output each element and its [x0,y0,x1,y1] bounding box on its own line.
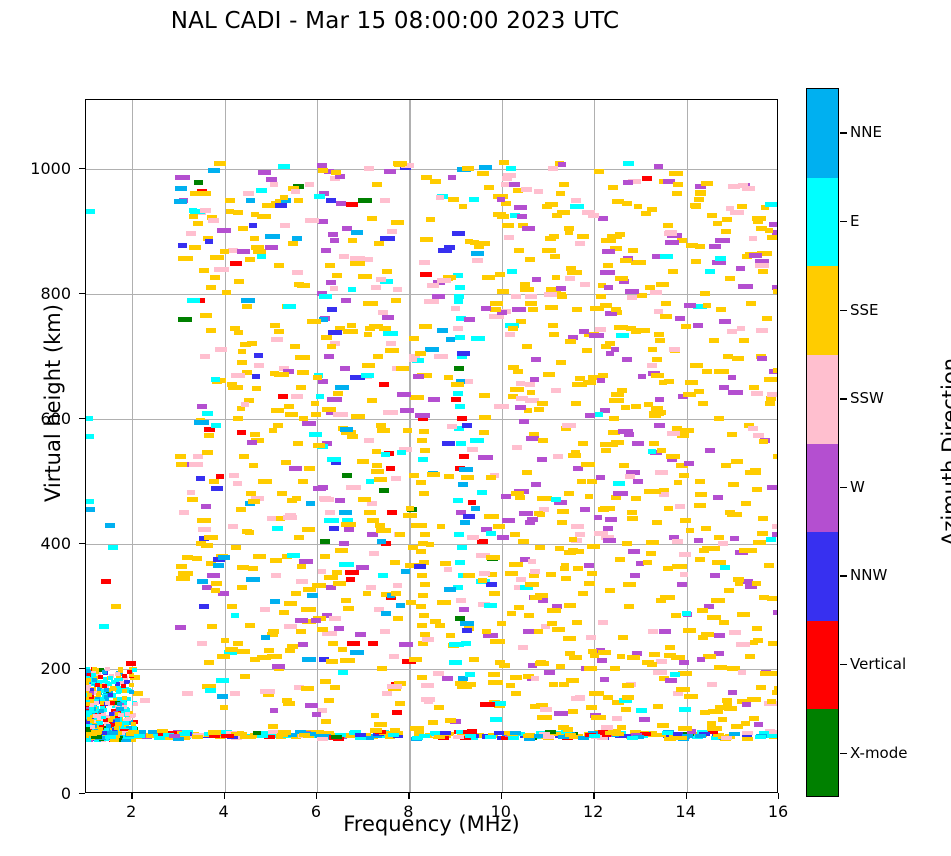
echo-marker [722,217,732,222]
echo-marker [737,326,746,331]
echo-marker [750,640,758,645]
echo-marker [752,581,761,586]
echo-marker [269,428,277,433]
echo-marker [521,187,532,192]
echo-marker [313,375,322,380]
echo-marker [594,531,608,536]
echo-marker [397,392,411,397]
echo-marker [695,557,705,562]
echo-marker [458,482,468,487]
echo-marker [532,734,543,738]
echo-marker [562,423,577,428]
echo-marker [547,608,561,613]
echo-marker [189,214,197,219]
echo-marker [249,463,258,468]
echo-marker [361,373,374,378]
gridline-horizontal [86,419,777,420]
echo-marker [727,512,742,517]
echo-marker [662,731,673,735]
echo-marker [746,301,756,306]
echo-marker [627,510,637,515]
echo-marker [490,639,505,644]
echo-marker [601,725,613,730]
echo-marker [766,537,776,542]
echo-marker [383,410,397,415]
echo-marker [376,423,386,428]
gridline-vertical [225,100,226,792]
echo-marker [767,235,777,240]
echo-marker [373,354,383,359]
echo-marker [540,707,553,712]
echo-marker [469,197,479,202]
echo-marker [409,357,418,362]
echo-marker [358,198,372,203]
echo-marker [499,663,511,668]
echo-marker [125,708,130,712]
echo-marker [396,603,405,608]
echo-marker [459,467,474,472]
echo-marker [653,670,667,675]
echo-marker [237,249,250,254]
echo-marker [669,347,681,352]
echo-marker [329,526,339,531]
echo-marker [460,621,474,626]
echo-marker [292,236,302,241]
echo-marker [320,679,332,684]
echo-marker [709,338,719,343]
echo-marker [298,479,308,484]
echo-marker [371,285,381,290]
echo-marker [251,212,259,217]
echo-marker [424,299,439,304]
echo-marker [390,728,400,733]
echo-marker [270,182,279,187]
echo-marker [253,554,266,559]
echo-marker [383,331,397,336]
echo-marker [520,287,534,292]
echo-marker [284,624,298,629]
echo-marker [449,660,463,665]
echo-marker [656,282,669,287]
echo-marker [236,507,246,512]
echo-marker [437,600,451,605]
x-axis-tick [224,793,225,799]
echo-marker [488,680,502,685]
echo-marker [453,498,463,503]
echo-marker [628,549,640,554]
echo-marker [355,733,366,737]
echo-marker [727,432,737,437]
echo-marker [198,527,211,532]
echo-marker [377,539,387,544]
echo-marker [237,585,247,590]
x-axis-tick [686,793,687,799]
echo-marker [646,540,659,545]
echo-marker [752,216,766,221]
echo-marker [362,363,376,368]
echo-marker [377,428,390,433]
echo-marker [456,598,466,603]
echo-marker [324,575,338,580]
echo-marker [86,681,89,685]
echo-marker [659,380,667,385]
colorbar-segment-vertical [807,621,838,710]
echo-marker [422,637,434,642]
echo-marker [760,671,775,676]
echo-marker [582,210,595,215]
echo-marker [459,454,469,459]
echo-marker [594,169,604,174]
echo-marker [230,261,242,266]
echo-marker [600,677,609,682]
y-axis-tick-label: 1000 [1,159,71,178]
echo-marker [245,623,255,628]
echo-marker [503,173,516,178]
echo-marker [563,727,573,732]
y-axis-tick-label: 400 [1,534,71,553]
echo-marker [254,353,263,358]
echo-marker [737,612,750,617]
echo-marker [648,347,657,352]
colorbar-tick [840,753,847,754]
echo-marker [391,476,401,481]
echo-marker [343,329,358,334]
echo-marker [713,221,722,226]
colorbar-tick [840,132,847,133]
echo-marker [175,454,186,459]
echo-marker [292,270,303,275]
echo-marker [715,256,726,261]
echo-marker [140,698,150,703]
echo-marker [338,647,348,652]
echo-marker [331,170,341,175]
echo-marker [558,162,566,167]
echo-marker [598,620,608,625]
echo-marker [294,198,304,203]
echo-marker [751,391,763,396]
echo-marker [380,629,390,634]
echo-marker [240,342,251,347]
echo-marker [108,545,118,550]
echo-marker [285,412,298,417]
echo-marker [613,491,628,496]
echo-marker [451,397,461,402]
echo-marker [157,729,168,733]
echo-marker [174,199,187,204]
echo-marker [596,475,606,480]
echo-marker [742,186,755,191]
echo-marker [366,479,375,484]
echo-marker [712,560,727,565]
echo-marker [257,655,271,660]
echo-marker [318,569,326,574]
echo-marker [228,248,238,253]
echo-marker [275,203,288,208]
echo-marker [542,248,556,253]
echo-marker [757,531,768,536]
echo-marker [525,382,535,387]
echo-marker [108,718,113,722]
echo-marker [334,626,344,631]
echo-marker [707,682,717,687]
echo-marker [616,333,630,338]
echo-marker [705,269,716,274]
echo-marker [551,497,560,502]
echo-marker [680,518,692,523]
echo-marker [477,171,489,176]
echo-marker [625,289,639,294]
echo-marker [537,457,547,462]
echo-marker [376,277,385,282]
echo-marker [265,245,279,250]
echo-marker [766,396,776,401]
echo-marker [680,428,695,433]
echo-marker [676,736,687,740]
echo-marker [517,214,528,219]
echo-marker [456,441,466,446]
echo-marker [737,204,747,209]
echo-marker [547,621,557,626]
echo-marker [209,479,219,484]
echo-marker [326,659,338,664]
echo-marker [575,532,585,537]
echo-marker [548,166,558,171]
echo-marker [237,565,249,570]
echo-marker [348,238,357,243]
echo-marker [132,668,137,672]
echo-marker [571,198,581,203]
echo-marker [522,470,532,475]
echo-marker [464,317,475,322]
x-axis-tick-label: 4 [194,802,254,821]
echo-marker [294,535,304,540]
echo-marker [477,539,487,544]
echo-marker [179,510,189,515]
echo-marker [400,408,414,413]
echo-marker [694,389,704,394]
echo-marker [420,532,430,537]
echo-marker [544,292,557,297]
echo-marker [753,433,764,438]
echo-marker [403,513,417,518]
echo-marker [542,204,552,209]
echo-marker [497,621,506,626]
echo-marker [321,335,332,340]
echo-marker [752,487,762,492]
echo-marker [313,486,326,491]
echo-marker [412,736,423,740]
echo-marker [301,686,314,691]
echo-marker [638,374,646,379]
echo-marker [673,182,683,187]
echo-marker [288,241,298,246]
echo-marker [366,585,376,590]
echo-marker [586,705,597,710]
echo-marker [231,613,240,618]
echo-marker [624,604,634,609]
echo-marker [205,688,217,693]
echo-marker [371,713,380,718]
x-axis-tick-label: 16 [748,802,808,821]
x-axis-tick [131,793,132,799]
echo-marker [175,625,185,630]
x-axis-tick [593,793,594,799]
echo-marker [205,239,214,244]
echo-marker [757,356,767,361]
echo-marker [98,675,103,679]
echo-marker [223,734,234,738]
echo-marker [565,276,575,281]
echo-marker [685,380,698,385]
echo-marker [681,324,691,329]
echo-marker [376,528,391,533]
echo-marker [265,234,280,239]
x-axis-tick-label: 2 [101,802,161,821]
echo-marker [568,709,578,714]
echo-marker [711,598,724,603]
echo-marker [453,391,463,396]
echo-marker [330,685,340,690]
echo-marker [656,659,667,664]
echo-marker [728,690,737,695]
echo-marker [627,295,637,300]
echo-marker [202,450,213,455]
echo-marker [623,180,633,185]
echo-marker [434,705,444,710]
echo-marker [773,454,777,459]
echo-marker [510,532,520,537]
echo-marker [199,268,209,273]
echo-marker [418,641,428,646]
echo-marker [605,517,617,522]
echo-marker [272,664,285,669]
echo-marker [765,228,774,233]
echo-marker [448,197,458,202]
colorbar [806,88,839,797]
echo-marker [620,258,633,263]
echo-marker [559,182,569,187]
echo-marker [722,698,732,703]
echo-marker [122,674,127,678]
echo-marker [154,736,165,740]
echo-marker [665,678,677,683]
echo-marker [465,734,476,738]
echo-marker [211,581,223,586]
echo-marker [221,638,230,643]
echo-marker [497,289,508,294]
echo-marker [92,667,97,671]
echo-marker [596,294,606,299]
echo-marker [518,645,528,650]
echo-marker [695,492,707,497]
x-axis-tick-label: 6 [286,802,346,821]
echo-marker [526,436,539,441]
echo-marker [301,607,316,612]
echo-marker [527,517,538,522]
echo-marker [471,336,485,341]
echo-marker [453,326,463,331]
echo-marker [514,205,527,210]
echo-marker [86,678,91,682]
echo-marker [296,629,306,634]
echo-marker [767,699,777,704]
echo-marker [241,298,254,303]
echo-marker [534,407,544,412]
echo-marker [230,691,240,696]
echo-marker [645,285,655,290]
echo-marker [647,363,657,368]
y-axis-tick [79,293,85,294]
echo-marker [510,675,521,680]
echo-marker [609,416,619,421]
echo-marker [442,676,453,681]
echo-marker [584,563,594,568]
echo-marker [341,298,351,303]
echo-marker [535,545,545,550]
echo-marker [332,570,342,575]
echo-marker [505,571,517,576]
echo-marker [509,182,520,187]
echo-marker [714,665,728,670]
echo-marker [728,390,743,395]
echo-marker [694,538,703,543]
echo-marker [197,641,207,646]
echo-marker [714,535,724,540]
echo-marker [486,475,496,480]
echo-marker [495,272,505,277]
echo-marker [338,670,348,675]
echo-marker [208,218,219,223]
echo-marker [287,553,300,558]
echo-marker [719,319,731,324]
echo-marker [379,382,389,387]
echo-marker [336,201,346,206]
echo-marker [545,305,559,310]
echo-marker [178,256,192,261]
echo-marker [677,582,687,587]
echo-marker [756,685,766,690]
echo-marker [622,357,632,362]
echo-marker [493,524,504,529]
x-axis-tick [408,793,409,799]
echo-marker [695,479,705,484]
echo-marker [197,404,207,409]
echo-marker [128,730,139,734]
echo-marker [420,237,433,242]
echo-marker [317,737,328,741]
echo-marker [283,304,296,309]
echo-marker [197,518,211,523]
echo-marker [311,618,321,623]
echo-marker [234,279,244,284]
echo-marker [502,223,514,228]
echo-marker [189,208,197,213]
echo-marker [684,461,694,466]
echo-marker [603,263,613,268]
echo-marker [408,545,418,550]
echo-marker [494,404,509,409]
echo-marker [417,573,427,578]
echo-marker [270,708,278,713]
echo-marker [242,304,252,309]
echo-marker [504,235,514,240]
echo-marker [197,579,208,584]
echo-marker [249,223,257,228]
echo-marker [307,319,322,324]
colorbar-segment-w [807,444,838,533]
echo-marker [380,198,390,203]
echo-marker [502,518,515,523]
